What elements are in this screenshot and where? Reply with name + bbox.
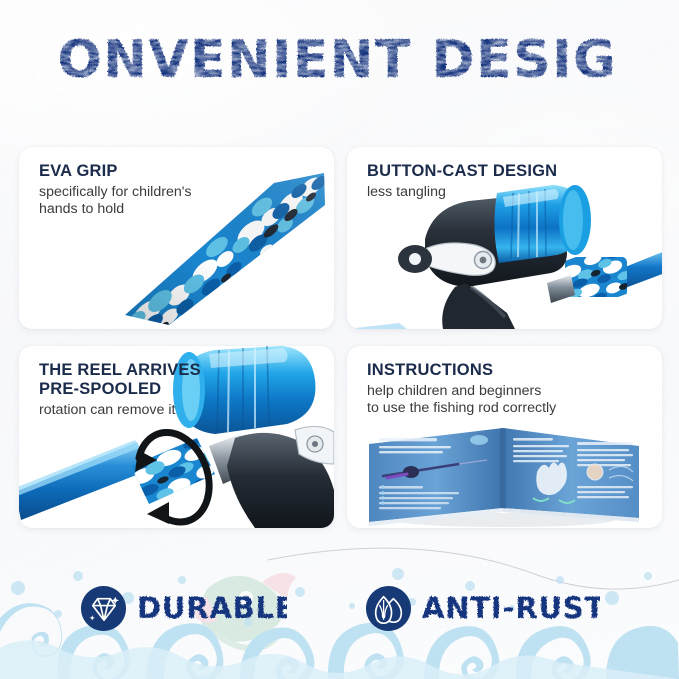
card-title: BUTTON-CAST DESIGN <box>367 162 557 181</box>
diamond-icon <box>80 585 127 632</box>
badge-anti-rust-text: ANTI-RUST <box>422 591 600 625</box>
page-title: CONVENIENT DESIGN <box>0 22 679 98</box>
page-title-text: CONVENIENT DESIGN <box>60 30 620 90</box>
feature-card-eva-grip: EVA GRIP specifically for children's han… <box>19 147 334 329</box>
card-subtitle: specifically for children's hands to hol… <box>39 184 192 219</box>
feature-card-pre-spooled: THE REEL ARRIVES PRE-SPOOLED rotation ca… <box>19 346 334 528</box>
card-text-block: EVA GRIP specifically for children's han… <box>39 162 192 219</box>
card-title: EVA GRIP <box>39 162 192 181</box>
card-text-block: INSTRUCTIONS help children and beginners… <box>367 361 556 418</box>
badge-anti-rust: ANTI-RUST <box>365 585 600 632</box>
badge-durable: DURABLE <box>80 585 287 632</box>
page-title-artwork: CONVENIENT DESIGN <box>60 24 620 96</box>
card-subtitle: less tangling <box>367 184 557 202</box>
card-title: INSTRUCTIONS <box>367 361 556 380</box>
badge-anti-rust-label: ANTI-RUST <box>422 587 600 629</box>
card-text-block: BUTTON-CAST DESIGN less tangling <box>367 162 557 201</box>
badge-durable-label: DURABLE <box>137 587 287 629</box>
feature-card-button-cast: BUTTON-CAST DESIGN less tangling <box>347 147 662 329</box>
card-subtitle: help children and beginners to use the f… <box>367 383 556 418</box>
water-drop-leaf-icon <box>365 585 412 632</box>
card-subtitle: rotation can remove it <box>39 402 201 420</box>
feature-card-instructions: INSTRUCTIONS help children and beginners… <box>347 346 662 528</box>
card-title: THE REEL ARRIVES PRE-SPOOLED <box>39 361 201 399</box>
infographic-page: CONVENIENT DESIGN <box>0 0 679 679</box>
badge-durable-text: DURABLE <box>137 591 287 625</box>
feature-badges: DURABLE ANTI-RUST <box>0 576 679 640</box>
card-text-block: THE REEL ARRIVES PRE-SPOOLED rotation ca… <box>39 361 201 419</box>
